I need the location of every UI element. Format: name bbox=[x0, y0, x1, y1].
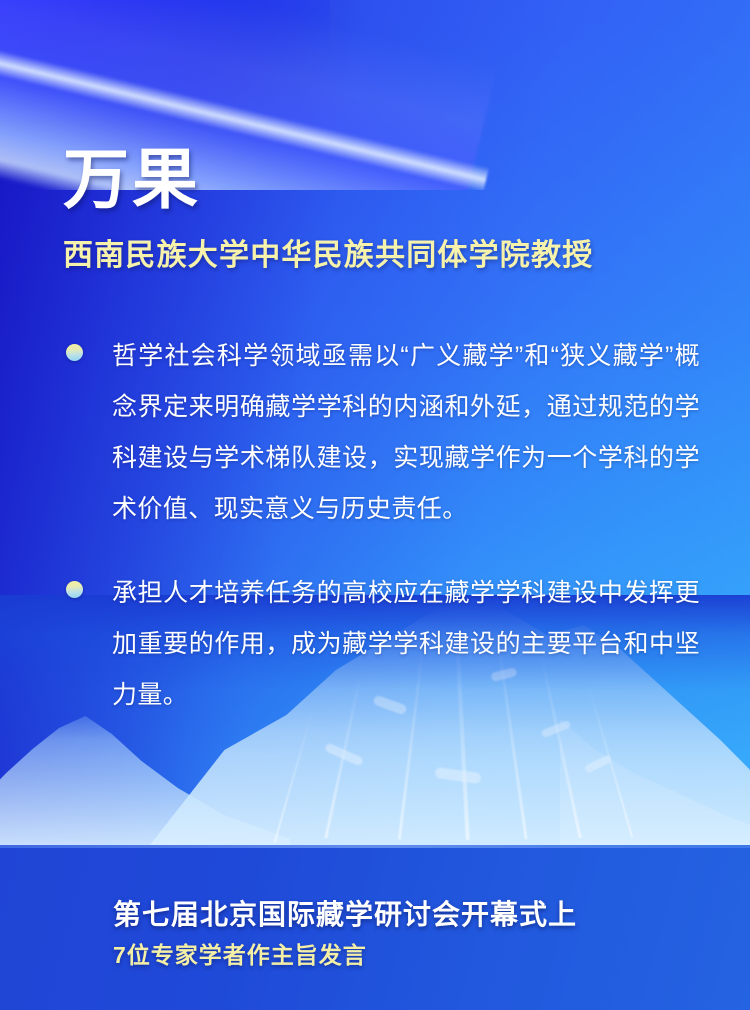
gradient-dot-icon bbox=[66, 581, 83, 598]
footer-content: 第七届北京国际藏学研讨会开幕式上 7位专家学者作主旨发言 bbox=[113, 897, 673, 970]
speaker-name: 万果 bbox=[63, 146, 201, 212]
list-item: 哲学社会科学领域亟需以“广义藏学”和“狭义藏学”概念界定来明确藏学学科的内涵和外… bbox=[60, 331, 700, 535]
list-item: 承担人才培养任务的高校应在藏学学科建设中发挥更加重要的作用，成为藏学学科建设的主… bbox=[60, 568, 700, 721]
quote-bullet-list: 哲学社会科学领域亟需以“广义藏学”和“狭义藏学”概念界定来明确藏学学科的内涵和外… bbox=[60, 331, 700, 721]
footer-band: 第七届北京国际藏学研讨会开幕式上 7位专家学者作主旨发言 bbox=[0, 845, 750, 1010]
event-title: 第七届北京国际藏学研讨会开幕式上 bbox=[113, 897, 673, 932]
event-subtitle: 7位专家学者作主旨发言 bbox=[113, 941, 673, 970]
speaker-affiliation: 西南民族大学中华民族共同体学院教授 bbox=[63, 238, 593, 274]
bullet-text: 哲学社会科学领域亟需以“广义藏学”和“狭义藏学”概念界定来明确藏学学科的内涵和外… bbox=[112, 331, 700, 535]
speaker-quote-poster: 万果 西南民族大学中华民族共同体学院教授 哲学社会科学领域亟需以“广义藏学”和“… bbox=[0, 0, 750, 1010]
gradient-dot-icon bbox=[66, 344, 83, 361]
bullet-text: 承担人才培养任务的高校应在藏学学科建设中发挥更加重要的作用，成为藏学学科建设的主… bbox=[112, 568, 700, 721]
